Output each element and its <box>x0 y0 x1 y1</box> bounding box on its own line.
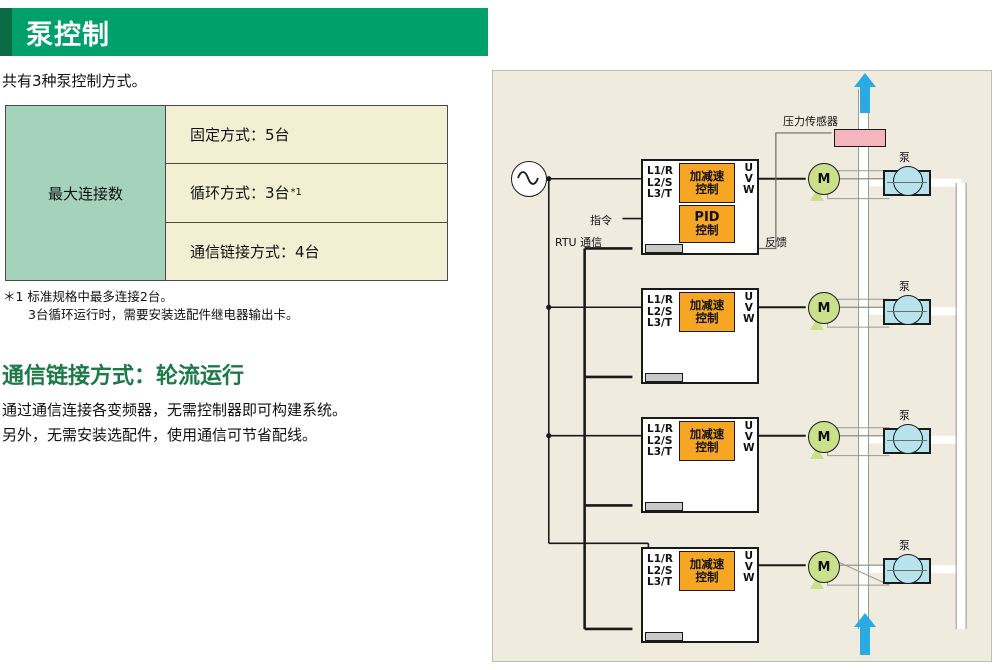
motor-symbol: M <box>808 421 840 453</box>
feedback-label: 反馈 <box>765 234 787 250</box>
terminal-w: W <box>743 185 755 196</box>
accel-label-line2: 控制 <box>696 312 719 325</box>
pressure-sensor-label: 压力传感器 <box>783 113 838 129</box>
pump-label-1: 泵 <box>899 149 910 165</box>
motor-3: M <box>807 421 841 461</box>
terminal-w: W <box>743 443 755 454</box>
inverter-2-input-terminals: L1/R L2/S L3/T <box>647 295 673 330</box>
table-row: 通信链接方式：4台 <box>166 222 447 280</box>
accel-decel-control-block-1: 加减速 控制 <box>679 163 735 203</box>
pump-2 <box>883 295 931 329</box>
section-heading: 通信链接方式：轮流运行 <box>2 358 244 390</box>
pump-label-4: 泵 <box>899 537 910 553</box>
pump-impeller <box>893 295 923 325</box>
pump-impeller <box>893 424 923 454</box>
inverter-3-output-terminals: U V W <box>743 421 755 454</box>
section-body: 通过通信连接各变频器，无需控制器即可构建系统。 另外，无需安装选配件，使用通信可… <box>2 398 347 448</box>
system-diagram-panel: L1/R L2/S L3/T 加减速 控制 U V W PID 控制 指令 RT… <box>492 70 992 662</box>
inverter-3-input-terminals: L1/R L2/S L3/T <box>647 424 673 459</box>
terminal-l3t: L3/T <box>647 318 673 330</box>
inverter-4-output-terminals: U V W <box>743 551 755 584</box>
terminal-l1r: L1/R <box>647 424 673 436</box>
footnote: ＊1 标准规格中最多连接2台。 3台循环运行时，需要安装选配件继电器输出卡。 <box>3 288 298 324</box>
intro-text: 共有3种泵控制方式。 <box>2 70 147 91</box>
pump-impeller <box>893 166 923 196</box>
pump-impeller <box>893 554 923 584</box>
terminal-w: W <box>743 573 755 584</box>
footnote-line-1: ＊1 标准规格中最多连接2台。 <box>3 288 298 306</box>
table-row: 固定方式：5台 <box>166 106 447 163</box>
comm-port-3 <box>645 502 683 511</box>
pump-4 <box>883 554 931 588</box>
terminal-l3t: L3/T <box>647 447 673 459</box>
accel-label-line2: 控制 <box>696 571 719 584</box>
spec-row-label: 通信链接方式：4台 <box>190 241 320 262</box>
accel-decel-control-block-2: 加减速 控制 <box>679 292 735 332</box>
inverter-4-input-terminals: L1/R L2/S L3/T <box>647 554 673 589</box>
accel-decel-control-block-4: 加减速 控制 <box>679 551 735 591</box>
comm-port-4 <box>645 632 683 641</box>
pump-shaft <box>887 311 927 312</box>
inverter-1-input-terminals: L1/R L2/S L3/T <box>647 166 673 201</box>
comm-port-1 <box>645 244 683 253</box>
spec-row-label: 固定方式：5台 <box>190 124 290 145</box>
pump-3 <box>883 424 931 458</box>
ac-power-source-icon <box>511 161 547 197</box>
spec-table: 最大连接数 固定方式：5台 循环方式：3台*1 通信链接方式：4台 <box>5 105 448 281</box>
motor-symbol: M <box>808 292 840 324</box>
pump-shaft <box>887 440 927 441</box>
comm-port-2 <box>645 373 683 382</box>
terminal-l1r: L1/R <box>647 166 673 178</box>
inverter-2-output-terminals: U V W <box>743 292 755 325</box>
spec-table-body: 固定方式：5台 循环方式：3台*1 通信链接方式：4台 <box>166 106 447 280</box>
spec-table-row-header: 最大连接数 <box>6 106 166 280</box>
terminal-l1r: L1/R <box>647 295 673 307</box>
motor-4: M <box>807 551 841 591</box>
command-label: 指令 <box>590 212 612 228</box>
pump-label-3: 泵 <box>899 407 910 423</box>
spec-row-note: *1 <box>291 187 302 198</box>
spec-row-label: 循环方式：3台 <box>190 182 290 203</box>
pressure-sensor <box>834 129 886 147</box>
page-title: 泵控制 <box>26 8 110 56</box>
terminal-l3t: L3/T <box>647 577 673 589</box>
rtu-comm-label: RTU 通信 <box>555 234 602 250</box>
motor-symbol: M <box>808 551 840 583</box>
pid-control-block: PID 控制 <box>679 205 735 243</box>
pump-1 <box>883 166 931 200</box>
pid-label-line2: 控制 <box>696 224 719 237</box>
inlet-flow-arrow-icon <box>851 611 881 657</box>
motor-symbol: M <box>808 163 840 195</box>
terminal-l1r: L1/R <box>647 554 673 566</box>
pump-shaft <box>887 570 927 571</box>
terminal-l3t: L3/T <box>647 189 673 201</box>
motor-2: M <box>807 292 841 332</box>
table-row: 循环方式：3台*1 <box>166 163 447 221</box>
accel-label-line2: 控制 <box>696 441 719 454</box>
footnote-line-2: 3台循环运行时，需要安装选配件继电器输出卡。 <box>28 306 298 324</box>
accel-label-line2: 控制 <box>696 183 719 196</box>
accel-decel-control-block-3: 加减速 控制 <box>679 421 735 461</box>
pump-label-2: 泵 <box>899 278 910 294</box>
inverter-1-output-terminals: U V W <box>743 163 755 196</box>
pump-shaft <box>887 182 927 183</box>
motor-1: M <box>807 163 841 203</box>
outlet-flow-arrow-icon <box>851 71 881 115</box>
header-accent-bar <box>0 8 12 56</box>
terminal-w: W <box>743 314 755 325</box>
section-body-line-2: 另外，无需安装选配件，使用通信可节省配线。 <box>2 423 347 448</box>
section-body-line-1: 通过通信连接各变频器，无需控制器即可构建系统。 <box>2 398 347 423</box>
